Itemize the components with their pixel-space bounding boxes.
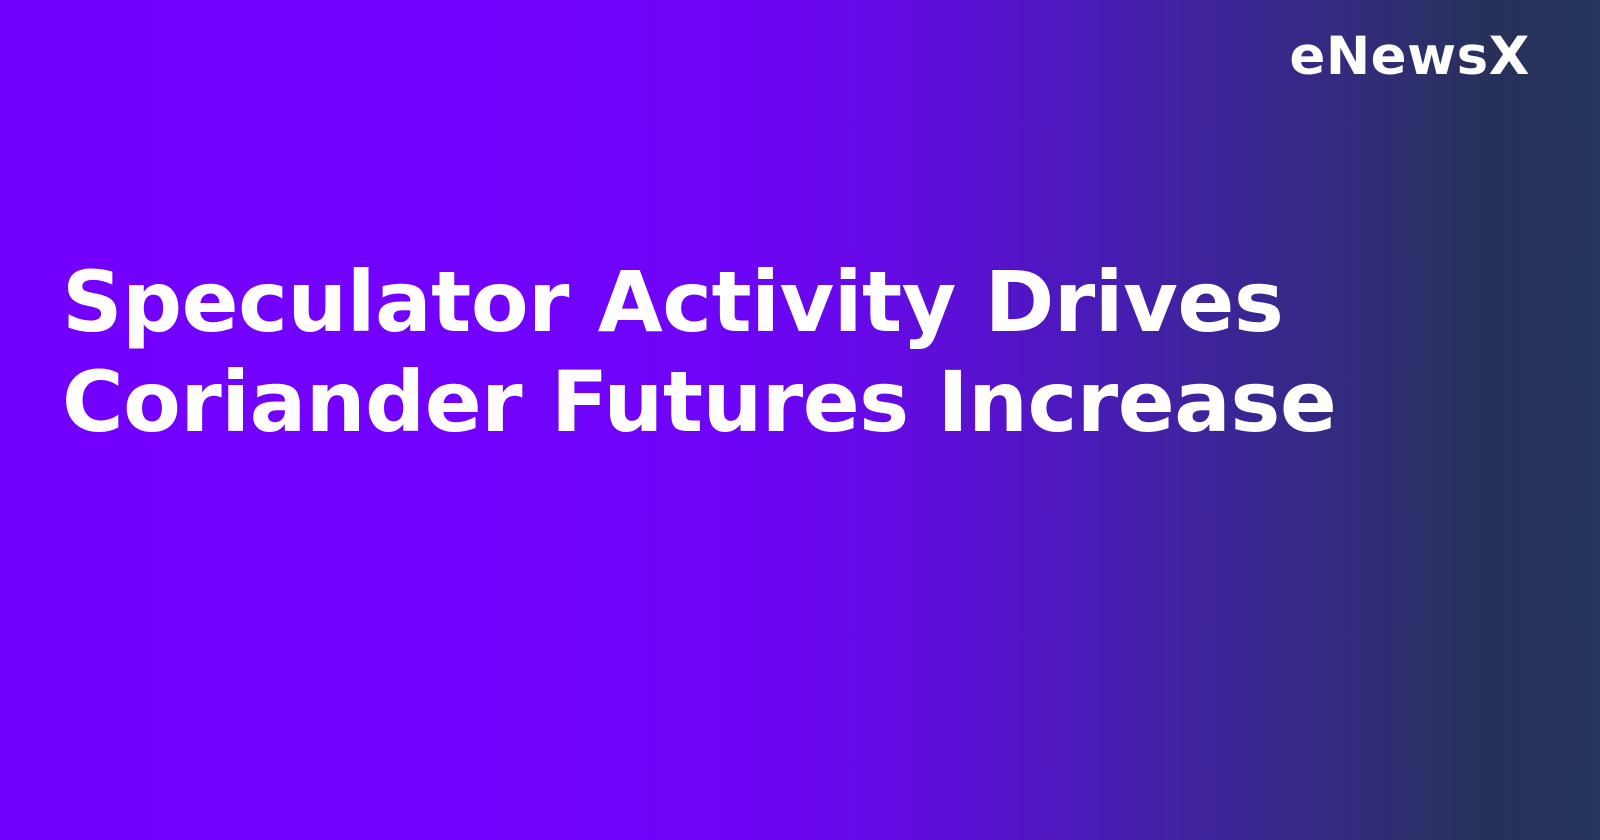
headline-block: Speculator Activity Drives Coriander Fut… [62,252,1382,452]
page-title: Speculator Activity Drives Coriander Fut… [62,252,1382,452]
brand-bar: eNewsX [1289,30,1530,83]
news-headline-card: eNewsX Speculator Activity Drives Corian… [0,0,1600,840]
enewsx-logo[interactable]: eNewsX [1289,30,1530,83]
